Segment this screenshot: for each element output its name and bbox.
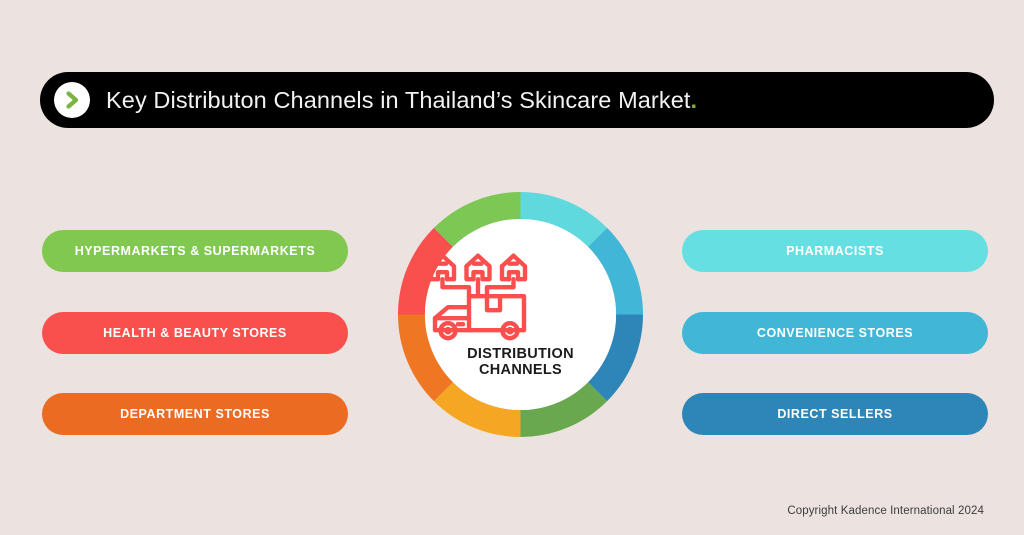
page-title: Key Distributon Channels in Thailand’s S… [106, 87, 697, 114]
channel-pill-label: DIRECT SELLERS [777, 407, 892, 421]
distribution-channels-donut-chart: DISTRIBUTION CHANNELS [398, 192, 643, 437]
page-title-period: . [691, 87, 698, 113]
channel-pill-label: HEALTH & BEAUTY STORES [103, 326, 287, 340]
delivery-truck-distribution-icon [426, 250, 616, 342]
channel-pill-pharmacists[interactable]: PHARMACISTS [682, 230, 988, 272]
channel-pill-label: PHARMACISTS [786, 244, 884, 258]
channel-pill-direct-sellers[interactable]: DIRECT SELLERS [682, 393, 988, 435]
donut-center-label-line-1: DISTRIBUTION [426, 346, 616, 363]
page-header-bar: Key Distributon Channels in Thailand’s S… [40, 72, 994, 128]
channel-pill-label: HYPERMARKETS & SUPERMARKETS [75, 244, 316, 258]
donut-center-label-line-2: CHANNELS [426, 363, 616, 380]
donut-center-content: DISTRIBUTION CHANNELS [426, 250, 616, 380]
chevron-right-icon [54, 82, 90, 118]
channel-pill-convenience-stores[interactable]: CONVENIENCE STORES [682, 312, 988, 354]
copyright-notice: Copyright Kadence International 2024 [787, 505, 984, 517]
channel-pill-label: DEPARTMENT STORES [120, 407, 270, 421]
channel-pill-label: CONVENIENCE STORES [757, 326, 913, 340]
channel-pill-department-stores[interactable]: DEPARTMENT STORES [42, 393, 348, 435]
channel-pill-health-beauty-stores[interactable]: HEALTH & BEAUTY STORES [42, 312, 348, 354]
channel-pill-hypermarkets-supermarkets[interactable]: HYPERMARKETS & SUPERMARKETS [42, 230, 348, 272]
page-title-text: Key Distributon Channels in Thailand’s S… [106, 87, 691, 113]
donut-center-label: DISTRIBUTION CHANNELS [426, 346, 616, 380]
